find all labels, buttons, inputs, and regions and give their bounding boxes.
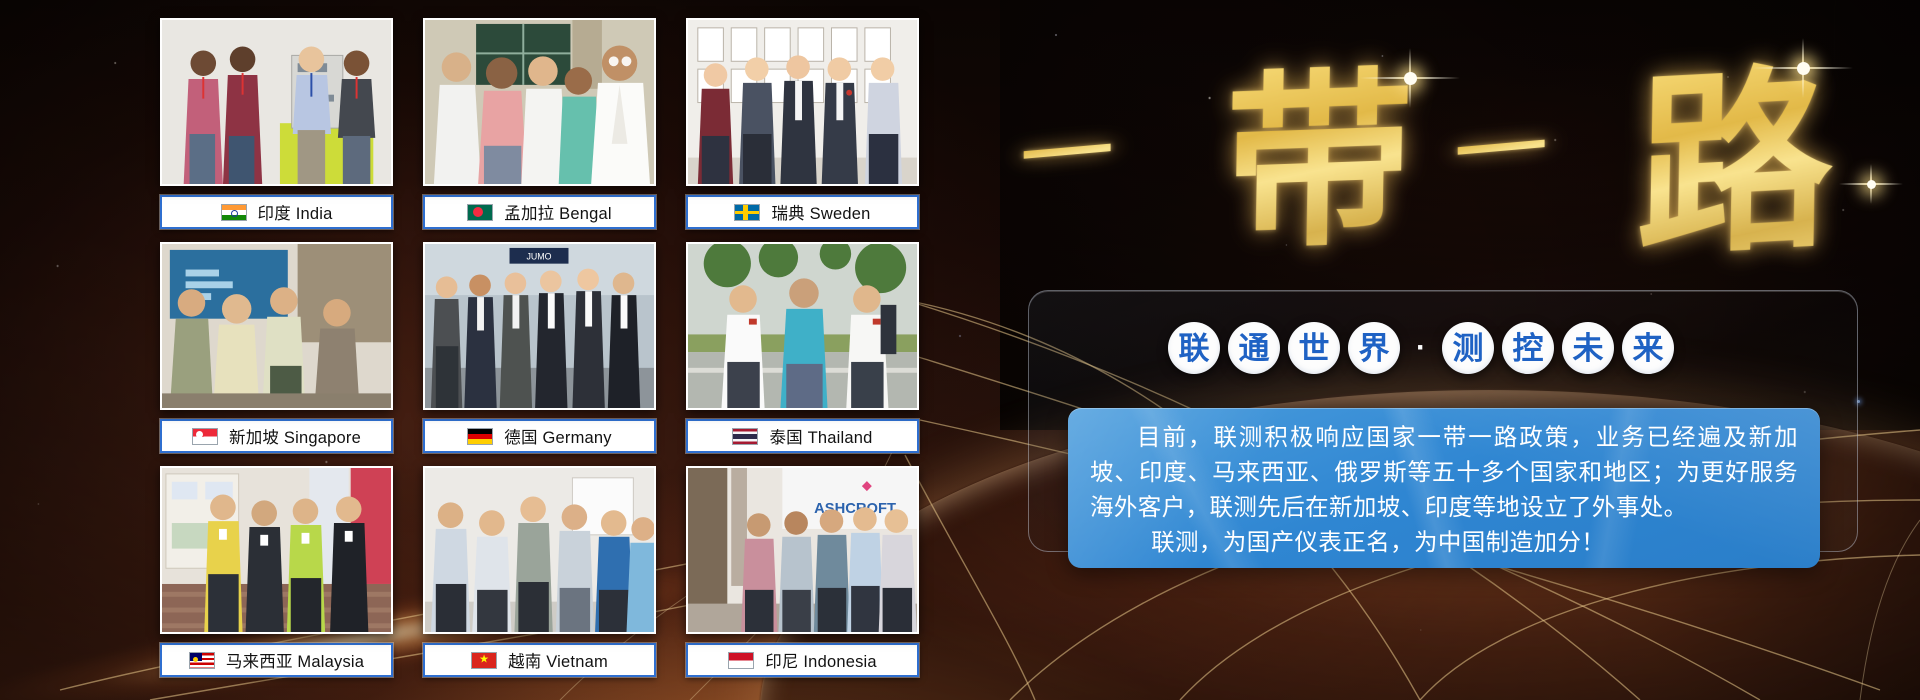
description-paragraph-2: 联测，为国产仪表正名，为中国制造加分！ [1090, 525, 1798, 560]
germany-flag-icon [467, 428, 493, 445]
label-singapore: 新加坡 Singapore [160, 419, 393, 453]
label-text: 德国 Germany [504, 424, 611, 448]
slogan-char-6: 控 [1502, 322, 1554, 374]
bangladesh-flag-icon [467, 204, 493, 221]
label-vietnam: 越南 Vietnam [423, 643, 656, 677]
title-char-1: 一 [1021, 96, 1113, 200]
gallery-item-indonesia[interactable]: ◆ ASHCROFT 印尼 Indonesia [686, 466, 919, 677]
gallery-item-malaysia[interactable]: 马来西亚 Malaysia [160, 466, 393, 677]
label-text: 泰国 Thailand [769, 424, 872, 448]
sweden-flag-icon [734, 204, 760, 221]
label-sweden: 瑞典 Sweden [686, 195, 919, 229]
label-text: 马来西亚 Malaysia [226, 648, 364, 672]
gallery-item-bengal[interactable]: 孟加拉 Bengal [423, 18, 656, 229]
india-flag-icon [221, 204, 247, 221]
title-char-2: 带 [1223, 7, 1416, 286]
photo-singapore[interactable] [160, 242, 393, 410]
country-photo-gallery: 印度 India 孟加 [160, 18, 920, 683]
gallery-item-thailand[interactable]: 泰国 Thailand [686, 242, 919, 453]
label-thailand: 泰国 Thailand [686, 419, 919, 453]
gallery-item-singapore[interactable]: 新加坡 Singapore [160, 242, 393, 453]
label-text: 印尼 Indonesia [765, 648, 877, 672]
slogan-char-4: 界 [1348, 322, 1400, 374]
label-text: 瑞典 Sweden [771, 200, 870, 224]
slogan-char-1: 联 [1168, 322, 1220, 374]
label-text: 孟加拉 Bengal [504, 200, 611, 224]
label-bengal: 孟加拉 Bengal [423, 195, 656, 229]
title-char-4: 路 [1635, 1, 1836, 295]
gallery-item-vietnam[interactable]: 越南 Vietnam [423, 466, 656, 677]
indonesia-flag-icon [728, 652, 754, 669]
slogan-char-2: 通 [1228, 322, 1280, 374]
description-paragraph-1: 目前，联测积极响应国家一带一路政策，业务已经遍及新加坡、印度、马来西亚、俄罗斯等… [1090, 420, 1798, 525]
vietnam-flag-icon [471, 652, 497, 669]
slogan-char-8: 来 [1622, 322, 1674, 374]
gallery-item-sweden[interactable]: 瑞典 Sweden [686, 18, 919, 229]
malaysia-flag-icon [189, 652, 215, 669]
photo-sweden[interactable] [686, 18, 919, 186]
label-text: 越南 Vietnam [508, 648, 608, 672]
label-germany: 德国 Germany [423, 419, 656, 453]
slogan-char-7: 未 [1562, 322, 1614, 374]
gallery-item-germany[interactable]: JUMO 德国 Germany [423, 242, 656, 453]
svg-text:JUMO: JUMO [526, 252, 551, 262]
photo-indonesia[interactable]: ◆ ASHCROFT [686, 466, 919, 634]
description-box: 目前，联测积极响应国家一带一路政策，业务已经遍及新加坡、印度、马来西亚、俄罗斯等… [1068, 408, 1820, 568]
belt-and-road-title: 一 带 一 路 [1015, 12, 1905, 217]
label-malaysia: 马来西亚 Malaysia [160, 643, 393, 677]
singapore-flag-icon [192, 428, 218, 445]
title-char-3: 一 [1455, 92, 1547, 196]
slogan-char-3: 世 [1288, 322, 1340, 374]
photo-bengal[interactable] [423, 18, 656, 186]
company-slogan: 联 通 世 界 · 测 控 未 来 [1168, 322, 1674, 374]
label-text: 印度 India [258, 200, 333, 224]
photo-india[interactable] [160, 18, 393, 186]
label-india: 印度 India [160, 195, 393, 229]
label-indonesia: 印尼 Indonesia [686, 643, 919, 677]
banner-stage: 印度 India 孟加 [0, 0, 1920, 700]
photo-germany[interactable]: JUMO [423, 242, 656, 410]
photo-malaysia[interactable] [160, 466, 393, 634]
description-text: 目前，联测积极响应国家一带一路政策，业务已经遍及新加坡、印度、马来西亚、俄罗斯等… [1068, 408, 1820, 560]
slogan-char-5: 测 [1442, 322, 1494, 374]
thailand-flag-icon [732, 428, 758, 445]
label-text: 新加坡 Singapore [229, 424, 361, 448]
svg-text:◆: ◆ [862, 478, 872, 493]
slogan-separator: · [1408, 322, 1434, 374]
gallery-item-india[interactable]: 印度 India [160, 18, 393, 229]
photo-thailand[interactable] [686, 242, 919, 410]
photo-vietnam[interactable] [423, 466, 656, 634]
